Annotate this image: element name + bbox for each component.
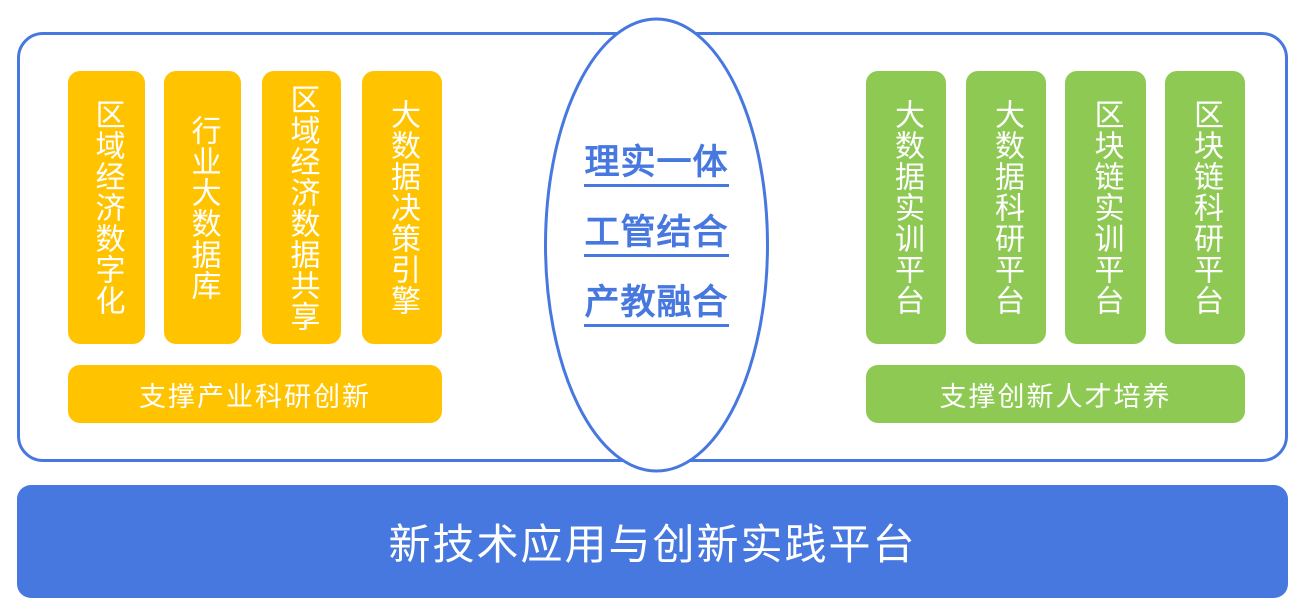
pillar-card-right-2[interactable]: 大数据科研平台 [966, 71, 1046, 344]
ellipse-line-3: 产教融合 [543, 285, 770, 327]
pillar-label: 区块链实训平台 [1089, 99, 1123, 316]
platform-banner-label: 新技术应用与创新实践平台 [388, 511, 916, 572]
ellipse-line-1: 理实一体 [543, 145, 770, 187]
pillar-card-right-3[interactable]: 区块链实训平台 [1065, 71, 1146, 344]
support-bar-right[interactable]: 支撑创新人才培养 [866, 365, 1245, 423]
ellipse-line-2: 工管结合 [543, 215, 770, 257]
support-bar-right-label: 支撑创新人才培养 [940, 375, 1172, 414]
center-ellipse: 理实一体 工管结合 产教融合 [543, 16, 770, 474]
platform-banner[interactable]: 新技术应用与创新实践平台 [17, 485, 1288, 598]
pillar-card-left-4[interactable]: 大数据决策引擎 [362, 71, 442, 344]
pillar-card-right-4[interactable]: 区块链科研平台 [1165, 71, 1245, 344]
pillar-label: 大数据科研平台 [989, 99, 1023, 316]
support-bar-left[interactable]: 支撑产业科研创新 [68, 365, 442, 423]
support-bar-left-label: 支撑产业科研创新 [139, 375, 371, 414]
ellipse-line-3-label: 产教融合 [584, 285, 728, 327]
pillar-label: 大数据实训平台 [889, 99, 923, 316]
pillar-label: 区域经济数据共享 [285, 84, 319, 332]
pillar-card-right-1[interactable]: 大数据实训平台 [866, 71, 946, 344]
pillar-card-left-2[interactable]: 行业大数据库 [164, 71, 241, 344]
center-ellipse-text: 理实一体 工管结合 产教融合 [543, 145, 770, 327]
pillar-label: 大数据决策引擎 [385, 99, 419, 316]
diagram-canvas: 区域经济数字化 行业大数据库 区域经济数据共享 大数据决策引擎 支撑产业科研创新… [0, 0, 1306, 615]
ellipse-line-2-label: 工管结合 [584, 215, 728, 257]
pillar-card-left-3[interactable]: 区域经济数据共享 [262, 71, 341, 344]
ellipse-line-1-label: 理实一体 [584, 145, 728, 187]
pillar-label: 区域经济数字化 [90, 99, 124, 316]
pillar-label: 区块链科研平台 [1188, 99, 1222, 316]
pillar-label: 行业大数据库 [186, 115, 220, 301]
pillar-card-left-1[interactable]: 区域经济数字化 [68, 71, 145, 344]
